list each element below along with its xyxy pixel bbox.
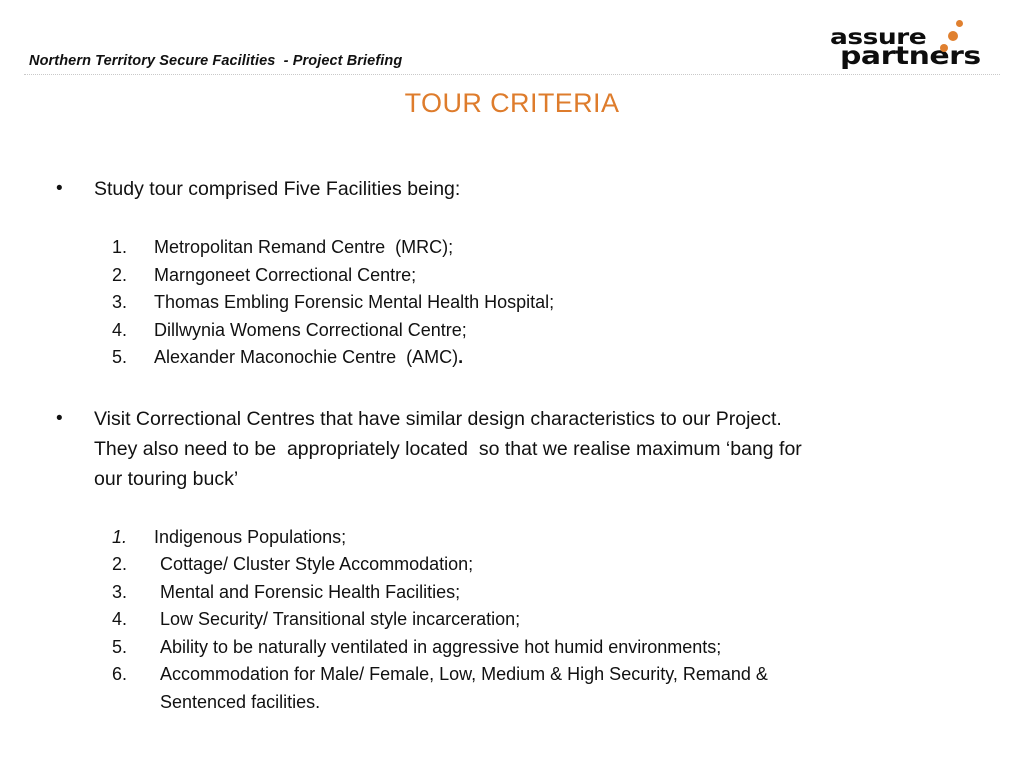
- list-item-text: Accommodation for Male/ Female, Low, Med…: [154, 661, 768, 716]
- list-item-text: Metropolitan Remand Centre (MRC);: [154, 234, 453, 262]
- list-marker: 1.: [112, 234, 154, 262]
- slide-header: Northern Territory Secure Facilities - P…: [0, 0, 1024, 80]
- list-item: 3. Thomas Embling Forensic Mental Health…: [112, 289, 1024, 317]
- list-marker: 3.: [112, 579, 154, 607]
- list-item: 1. Indigenous Populations;: [112, 524, 1024, 552]
- assure-partners-logo: assure partners: [826, 16, 1002, 68]
- bullet-point-visit: • Visit Correctional Centres that have s…: [0, 404, 1024, 494]
- list-item: 2. Marngoneet Correctional Centre;: [112, 262, 1024, 290]
- criteria-list: 1. Indigenous Populations; 2. Cottage/ C…: [0, 524, 1024, 717]
- list-item: 2. Cottage/ Cluster Style Accommodation;: [112, 551, 1024, 579]
- list-item: 3. Mental and Forensic Health Facilities…: [112, 579, 1024, 607]
- facilities-list: 1. Metropolitan Remand Centre (MRC); 2. …: [0, 234, 1024, 372]
- logo-dot-small-top-icon: [956, 20, 963, 27]
- list-item: 4. Low Security/ Transitional style inca…: [112, 606, 1024, 634]
- list-marker: 4.: [112, 317, 154, 345]
- list-marker: 3.: [112, 289, 154, 317]
- slide-body: • Study tour comprised Five Facilities b…: [0, 160, 1024, 716]
- bullet-text-line-3: our touring buck’: [94, 464, 802, 494]
- list-item-text: Mental and Forensic Health Facilities;: [154, 579, 460, 607]
- list-marker: 2.: [112, 551, 154, 579]
- logo-dot-large-middle-icon: [948, 31, 958, 41]
- list-item-text: Low Security/ Transitional style incarce…: [154, 606, 520, 634]
- list-item: 5. Alexander Maconochie Centre (AMC).: [112, 344, 1024, 372]
- logo-dot-small-bottom-icon: [940, 44, 948, 52]
- bullet-point-facilities-text: Study tour comprised Five Facilities bei…: [94, 174, 460, 204]
- bullet-text-line-1: Visit Correctional Centres that have sim…: [94, 404, 802, 434]
- list-item-text: Marngoneet Correctional Centre;: [154, 262, 416, 290]
- bullet-marker-icon: •: [56, 174, 94, 204]
- logo-wordmark-partners: partners: [840, 44, 981, 69]
- list-item-text: Dillwynia Womens Correctional Centre;: [154, 317, 467, 345]
- bullet-text-line-2: They also need to be appropriately locat…: [94, 434, 802, 464]
- list-marker: 6.: [112, 661, 154, 689]
- bullet-point-visit-text: Visit Correctional Centres that have sim…: [94, 404, 802, 494]
- page-title: TOUR CRITERIA: [0, 88, 1024, 119]
- list-item: 4. Dillwynia Womens Correctional Centre;: [112, 317, 1024, 345]
- list-item: 6. Accommodation for Male/ Female, Low, …: [112, 661, 1024, 716]
- list-item-terminal-period: .: [458, 347, 463, 367]
- list-marker: 5.: [112, 344, 154, 372]
- list-item-text: Indigenous Populations;: [154, 524, 346, 552]
- slide-canvas: Northern Territory Secure Facilities - P…: [0, 0, 1024, 768]
- list-marker: 5.: [112, 634, 154, 662]
- list-item: 1. Metropolitan Remand Centre (MRC);: [112, 234, 1024, 262]
- list-item-text-continuation: Sentenced facilities.: [160, 689, 768, 717]
- header-subtitle: Northern Territory Secure Facilities - P…: [29, 53, 402, 69]
- header-divider: [24, 74, 1000, 75]
- bullet-point-facilities: • Study tour comprised Five Facilities b…: [0, 174, 1024, 204]
- bullet-marker-icon: •: [56, 404, 94, 434]
- list-marker: 1.: [112, 524, 154, 552]
- list-item-text: Thomas Embling Forensic Mental Health Ho…: [154, 289, 554, 317]
- list-item: 5. Ability to be naturally ventilated in…: [112, 634, 1024, 662]
- list-marker: 4.: [112, 606, 154, 634]
- list-item-text: Alexander Maconochie Centre (AMC).: [154, 344, 463, 372]
- list-marker: 2.: [112, 262, 154, 290]
- list-item-text: Ability to be naturally ventilated in ag…: [154, 634, 721, 662]
- list-item-text: Cottage/ Cluster Style Accommodation;: [154, 551, 473, 579]
